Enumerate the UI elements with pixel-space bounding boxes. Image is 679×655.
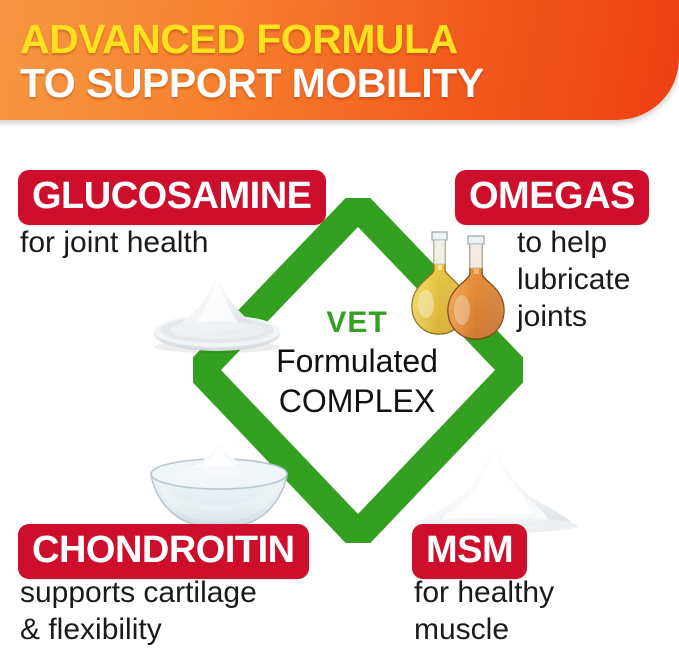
center-complex-label: COMPLEX bbox=[232, 381, 482, 421]
product-infographic: ADVANCED FORMULA TO SUPPORT MOBILITY bbox=[0, 0, 679, 655]
description-glucosamine: for joint health bbox=[20, 224, 320, 261]
banner-headline-primary: ADVANCED FORMULA bbox=[20, 16, 660, 63]
badge-omegas: OMEGAS bbox=[455, 170, 649, 225]
banner-headline-secondary: TO SUPPORT MOBILITY bbox=[20, 60, 660, 107]
powder-pile-icon bbox=[396, 428, 592, 538]
center-formulated-label: Formulated bbox=[232, 341, 482, 381]
badge-glucosamine: GLUCOSAMINE bbox=[18, 170, 326, 225]
description-chondroitin: supports cartilage & flexibility bbox=[20, 574, 380, 648]
badge-msm: MSM bbox=[412, 524, 527, 579]
center-vet-label: VET bbox=[232, 305, 482, 341]
header-banner: ADVANCED FORMULA TO SUPPORT MOBILITY bbox=[0, 0, 679, 120]
description-omegas: to help lubricate joints bbox=[517, 224, 679, 335]
badge-chondroitin: CHONDROITIN bbox=[18, 524, 309, 579]
center-text-block: VET Formulated COMPLEX bbox=[232, 305, 482, 421]
description-msm: for healthy muscle bbox=[414, 574, 664, 648]
